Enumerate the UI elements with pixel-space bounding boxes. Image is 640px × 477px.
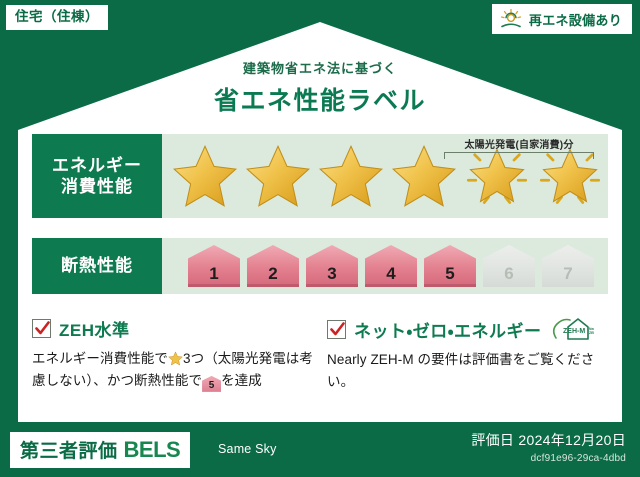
net-zero-heading: ネット・ゼロ・エネルギー ZEH-M Nearly ZEH-M	[327, 316, 608, 342]
insulation-label: 断熱性能	[61, 255, 133, 276]
label-subtitle: 建築物省エネ法に基づく	[0, 58, 640, 77]
evaluation-info: 評価日 2024年12月20日 dcf91e96-29ca-4dbd	[471, 430, 626, 464]
renewable-energy-badge: 再エネ設備あり	[492, 4, 632, 34]
star-5-solar	[460, 139, 533, 213]
net-zero-title: ネット・ゼロ・エネルギー	[354, 317, 542, 342]
zeh-description: エネルギー消費性能で3つ（太陽光発電は考慮しない）、かつ断熱性能で5を達成	[32, 348, 313, 392]
criterion-net-zero: ネット・ゼロ・エネルギー ZEH-M Nearly ZEH-M Nearly Z…	[327, 316, 608, 393]
zeh-m-logo-icon: ZEH-M Nearly ZEH-M	[550, 316, 594, 342]
insulation-grade-group: 1 2 3 4 5 6 7	[162, 238, 608, 294]
energy-performance-label: 住宅（住棟） 再エネ設備あり 建築物省エネ法に基づく 省エネ性能ラベル	[0, 0, 640, 477]
svg-text:ZEH-M: ZEH-M	[563, 328, 585, 335]
energy-star-track: 太陽光発電(自家消費)分	[162, 134, 608, 218]
insulation-grade-4: 4	[365, 245, 417, 287]
renewable-badge-label: 再エネ設備あり	[529, 10, 622, 29]
sun-icon	[498, 8, 524, 30]
zeh-grade-badge: 5	[202, 376, 221, 392]
insulation-grade-7: 7	[542, 245, 594, 287]
zeh-checkbox	[32, 319, 51, 338]
net-zero-description: Nearly ZEH-M の要件は評価書をご覧ください。	[327, 349, 608, 393]
check-icon	[34, 320, 51, 337]
zeh-text-part3: を達成	[221, 373, 262, 388]
label-footer: 第三者評価 BELS Same Sky 評価日 2024年12月20日 dcf9…	[0, 422, 640, 477]
svg-text:ZEH-M: ZEH-M	[589, 331, 594, 335]
zeh-title: ZEH水準	[59, 316, 130, 341]
star-2	[241, 139, 314, 213]
insulation-grade-5: 5	[424, 245, 476, 287]
energy-label-line2: 消費性能	[61, 176, 133, 197]
evaluation-id: dcf91e96-29ca-4dbd	[471, 453, 626, 464]
label-title: 省エネ性能ラベル	[0, 81, 640, 117]
star-icon	[168, 351, 183, 366]
criterion-zeh: ZEH水準 エネルギー消費性能で3つ（太陽光発電は考慮しない）、かつ断熱性能で5…	[32, 316, 313, 393]
owner-name: Same Sky	[218, 442, 277, 456]
insulation-grade-2: 2	[247, 245, 299, 287]
bels-certification-tag: 第三者評価 BELS	[10, 432, 190, 468]
star-6-solar	[533, 139, 606, 213]
energy-label-line1: エネルギー	[52, 155, 142, 176]
star-1	[168, 139, 241, 213]
zeh-heading: ZEH水準	[32, 316, 313, 341]
insulation-grade-1: 1	[188, 245, 240, 287]
evaluation-date: 評価日 2024年12月20日	[471, 430, 626, 450]
insulation-grade-track: 1 2 3 4 5 6 7	[162, 238, 608, 294]
star-rating-group	[162, 134, 608, 218]
energy-performance-row: エネルギー 消費性能	[32, 134, 608, 218]
energy-performance-label-box: エネルギー 消費性能	[32, 134, 162, 218]
zeh-text-part1: エネルギー消費性能で	[32, 351, 168, 366]
star-3	[314, 139, 387, 213]
net-zero-checkbox	[327, 320, 346, 339]
insulation-grade-6: 6	[483, 245, 535, 287]
insulation-performance-label-box: 断熱性能	[32, 238, 162, 294]
star-4	[387, 139, 460, 213]
check-icon	[329, 321, 346, 338]
insulation-performance-row: 断熱性能 1 2 3 4 5 6 7	[32, 238, 608, 294]
bels-logo-text: BELS	[124, 437, 181, 463]
bels-jp-label: 第三者評価	[20, 436, 118, 463]
label-title-block: 建築物省エネ法に基づく 省エネ性能ラベル	[0, 58, 640, 117]
insulation-grade-3: 3	[306, 245, 358, 287]
building-type-tag: 住宅（住棟）	[6, 5, 108, 30]
criteria-section: ZEH水準 エネルギー消費性能で3つ（太陽光発電は考慮しない）、かつ断熱性能で5…	[32, 316, 608, 393]
